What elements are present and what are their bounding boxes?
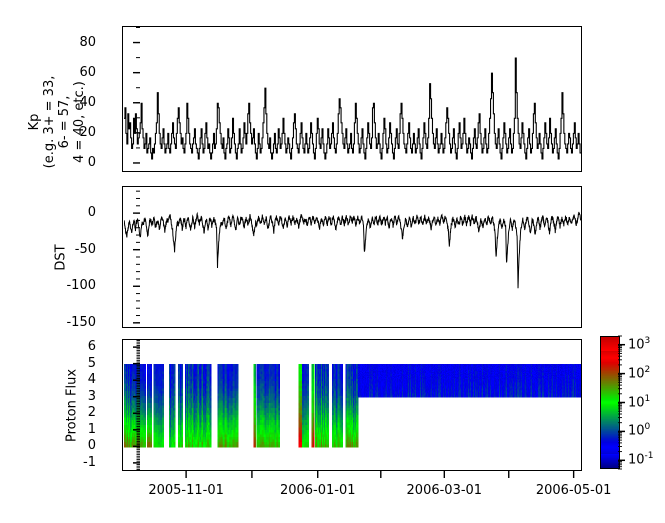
colorbar-tick-label: 102 bbox=[628, 365, 650, 381]
space-weather-figure: Kp (e.g. 3+ = 33, 6- = 57, 4 = 40, etc.)… bbox=[0, 0, 665, 523]
proton-flux-tick-label: 4 bbox=[40, 372, 96, 387]
dst-ticks-label: 0 bbox=[40, 205, 96, 220]
dst-ticks-label: -50 bbox=[40, 242, 96, 257]
x-axis-tick-label: 2006-03-01 bbox=[389, 483, 499, 498]
kp-ticks-label: 20 bbox=[40, 125, 96, 140]
x-axis-tick-label: 2005-11-01 bbox=[131, 483, 241, 498]
proton-flux-plot-area bbox=[124, 341, 581, 470]
colorbar-tick-label: 100 bbox=[628, 422, 650, 438]
proton-flux-tick-label: 1 bbox=[40, 422, 96, 437]
proton-flux-axis-ticks bbox=[100, 333, 140, 479]
proton-flux-tick-label: 6 bbox=[40, 339, 96, 354]
dst-ticks-label: -100 bbox=[40, 278, 96, 293]
kp-ticks-label: 60 bbox=[40, 65, 96, 80]
proton-flux-tick-label: 0 bbox=[40, 438, 96, 453]
colorbar-tick-label: 10-1 bbox=[628, 451, 654, 467]
x-axis-tick-label: 2006-05-01 bbox=[519, 483, 629, 498]
kp-axis-ticks bbox=[100, 20, 140, 180]
proton-flux-tick-label: 2 bbox=[40, 405, 96, 420]
dst-ticks-label: -150 bbox=[40, 315, 96, 330]
kp-ticks-label: 40 bbox=[40, 95, 96, 110]
colorbar-tick-label: 101 bbox=[628, 394, 650, 410]
dst-axis-ticks bbox=[100, 180, 140, 336]
kp-ticks-label: 0 bbox=[40, 155, 96, 170]
kp-plot-area bbox=[124, 28, 581, 171]
colorbar-ticks bbox=[618, 330, 628, 476]
x-axis-tick-label: 2006-01-01 bbox=[263, 483, 373, 498]
proton-flux-tick-label: -1 bbox=[40, 455, 96, 470]
proton-flux-tick-label: 5 bbox=[40, 356, 96, 371]
kp-ticks-label: 80 bbox=[40, 35, 96, 50]
proton-flux-tick-label: 3 bbox=[40, 389, 96, 404]
colorbar-tick-label: 103 bbox=[628, 336, 650, 352]
colorbar bbox=[600, 336, 620, 469]
dst-plot-area bbox=[124, 188, 581, 327]
